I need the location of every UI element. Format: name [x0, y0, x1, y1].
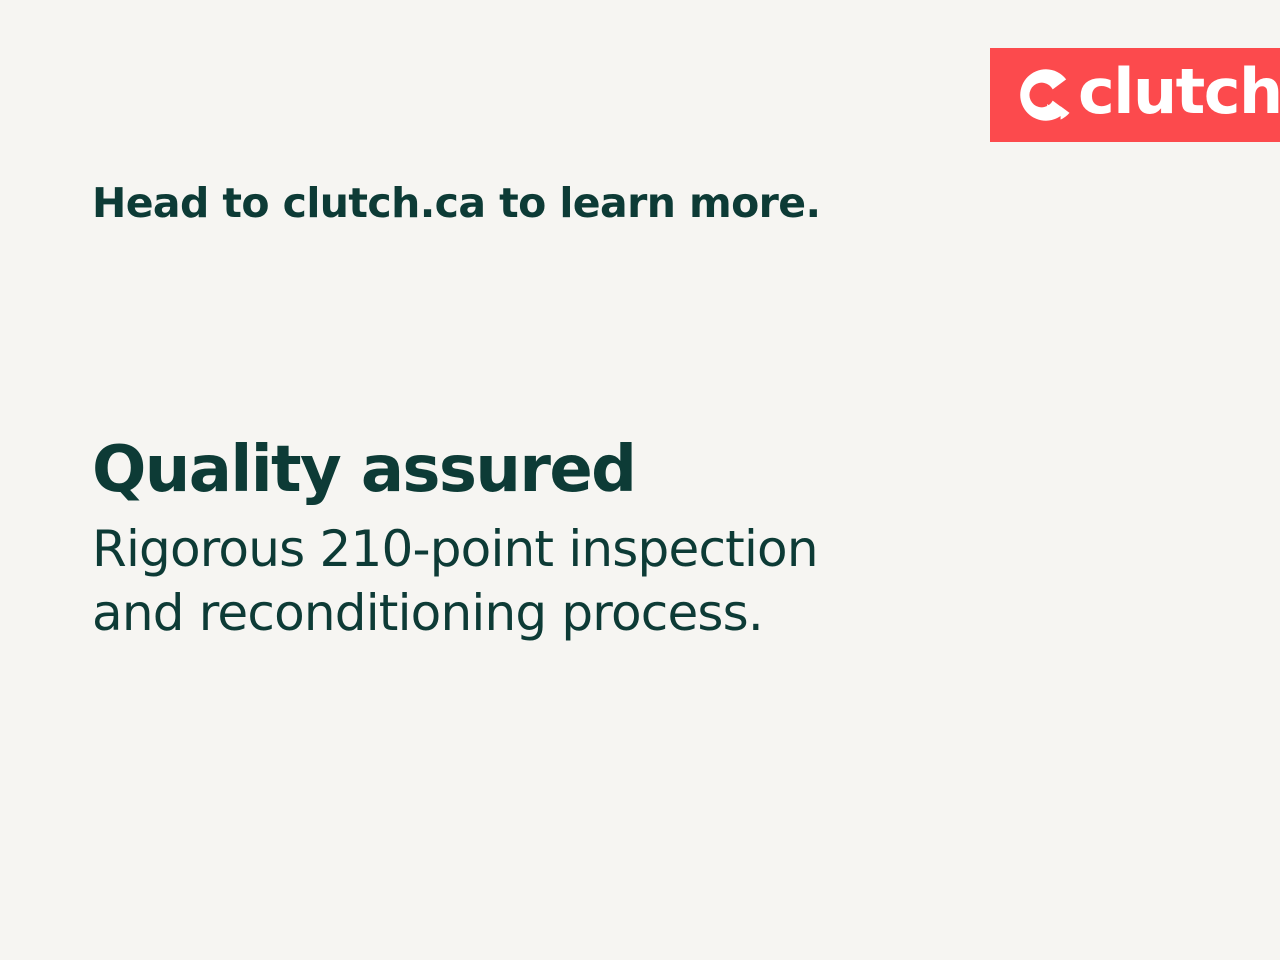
brand-banner: clutch	[990, 48, 1280, 142]
learn-more-headline: Head to clutch.ca to learn more.	[92, 180, 820, 227]
promo-slide: clutch Head to clutch.ca to learn more. …	[0, 0, 1280, 960]
message-body-line-2: and reconditioning process.	[92, 581, 992, 645]
clutch-logo[interactable]: clutch	[1018, 48, 1280, 142]
message-title: Quality assured	[92, 436, 992, 505]
message-body-line-1: Rigorous 210-point inspection	[92, 517, 992, 581]
message-body: Rigorous 210-point inspection and recond…	[92, 517, 992, 645]
message-block: Quality assured Rigorous 210-point inspe…	[92, 436, 992, 645]
clutch-c-mark-icon	[1018, 67, 1074, 123]
clutch-wordmark: clutch	[1078, 61, 1280, 123]
